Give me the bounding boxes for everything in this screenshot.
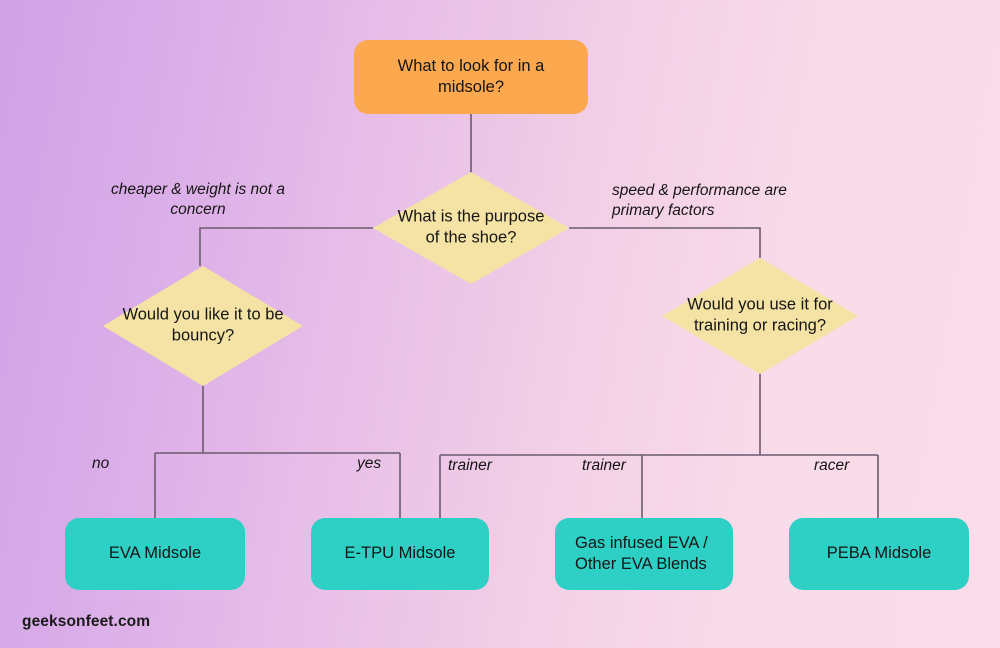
- node-start-line1: What to look for in a: [398, 57, 545, 75]
- node-terminal-eva[interactable]: EVA Midsole: [65, 518, 245, 590]
- edge-label-racer: racer: [814, 456, 849, 476]
- decision-purpose-line1: What is the purpose: [398, 208, 545, 226]
- node-terminal-gas-eva-line2: Other EVA Blends: [575, 555, 707, 573]
- node-terminal-eva-label: EVA Midsole: [109, 543, 201, 564]
- edge-label-cheaper: cheaper & weight is not a concern: [78, 180, 318, 220]
- node-decision-training-text: Would you use it for training or racing?: [662, 295, 858, 338]
- node-start-text: What to look for in a midsole?: [398, 56, 545, 99]
- node-start-line2: midsole?: [438, 78, 504, 96]
- node-terminal-gas-eva-text: Gas infused EVA / Other EVA Blends: [575, 533, 708, 576]
- decision-bouncy-line1: Would you like it to be: [122, 306, 283, 324]
- edge-purpose-to-bouncy: [200, 228, 373, 266]
- edge-label-trainer-left: trainer: [448, 456, 492, 476]
- node-terminal-etpu[interactable]: E-TPU Midsole: [311, 518, 489, 590]
- edge-label-cheaper-line2: concern: [170, 201, 225, 218]
- decision-bouncy-line2: bouncy?: [172, 327, 234, 345]
- decision-training-line1: Would you use it for: [687, 296, 833, 314]
- edge-label-no: no: [92, 454, 109, 474]
- decision-training-line2: training or racing?: [694, 317, 826, 335]
- node-terminal-peba-label: PEBA Midsole: [827, 543, 932, 564]
- edge-label-speed-line2: primary factors: [612, 202, 715, 219]
- edge-label-trainer-right: trainer: [582, 456, 626, 476]
- node-decision-bouncy-text: Would you like it to be bouncy?: [103, 305, 303, 348]
- flowchart-canvas: What to look for in a midsole? What is t…: [0, 0, 1000, 648]
- node-terminal-gas-eva[interactable]: Gas infused EVA / Other EVA Blends: [555, 518, 733, 590]
- watermark: geeksonfeet.com: [22, 613, 150, 631]
- node-terminal-peba[interactable]: PEBA Midsole: [789, 518, 969, 590]
- decision-purpose-line2: of the shoe?: [426, 229, 517, 247]
- edge-label-speed-line1: speed & performance are: [612, 182, 787, 199]
- node-decision-bouncy[interactable]: Would you like it to be bouncy?: [103, 266, 303, 386]
- node-decision-purpose[interactable]: What is the purpose of the shoe?: [373, 172, 569, 284]
- node-terminal-etpu-label: E-TPU Midsole: [345, 543, 456, 564]
- node-terminal-gas-eva-line1: Gas infused EVA /: [575, 534, 708, 552]
- node-start[interactable]: What to look for in a midsole?: [354, 40, 588, 114]
- edge-label-yes: yes: [357, 454, 381, 474]
- node-decision-purpose-text: What is the purpose of the shoe?: [373, 207, 569, 250]
- edge-label-cheaper-line1: cheaper & weight is not a: [111, 181, 285, 198]
- node-decision-training[interactable]: Would you use it for training or racing?: [662, 258, 858, 374]
- edge-label-speed: speed & performance are primary factors: [612, 181, 872, 221]
- edge-purpose-to-training: [569, 228, 760, 258]
